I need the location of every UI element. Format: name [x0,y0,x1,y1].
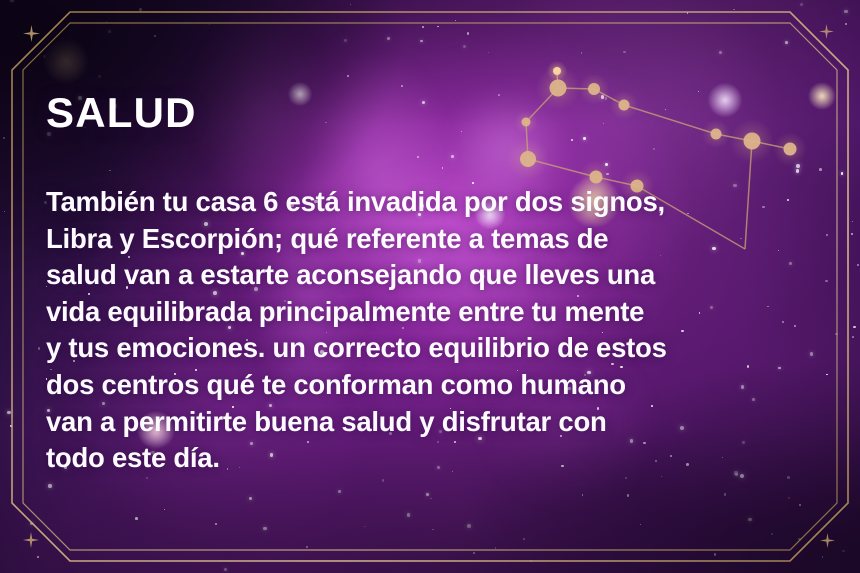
body-line: y tus emociones. un correcto equilibrio … [46,330,802,367]
sparkle-icon [820,533,835,548]
body-line: salud van a estarte aconsejando que llev… [46,257,802,294]
body-paragraph: También tu casa 6 está invadida por dos … [46,184,802,477]
body-line: dos centros qué te conforman como humano [46,367,802,404]
sparkle-icon [23,532,39,548]
body-line: vida equilibrada principalmente entre tu… [46,294,802,331]
body-line: van a permitirte buena salud y disfrutar… [46,404,802,441]
body-line: También tu casa 6 está invadida por dos … [46,184,802,221]
page-title: SALUD [46,92,802,134]
body-line: todo este día. [46,440,802,477]
body-line: Libra y Escorpión; qué referente a temas… [46,221,802,258]
sparkle-icon [23,25,40,42]
sparkle-icon [819,24,834,39]
card-content: SALUD También tu casa 6 está invadida po… [46,92,802,477]
horoscope-card: SALUD También tu casa 6 está invadida po… [0,0,860,573]
